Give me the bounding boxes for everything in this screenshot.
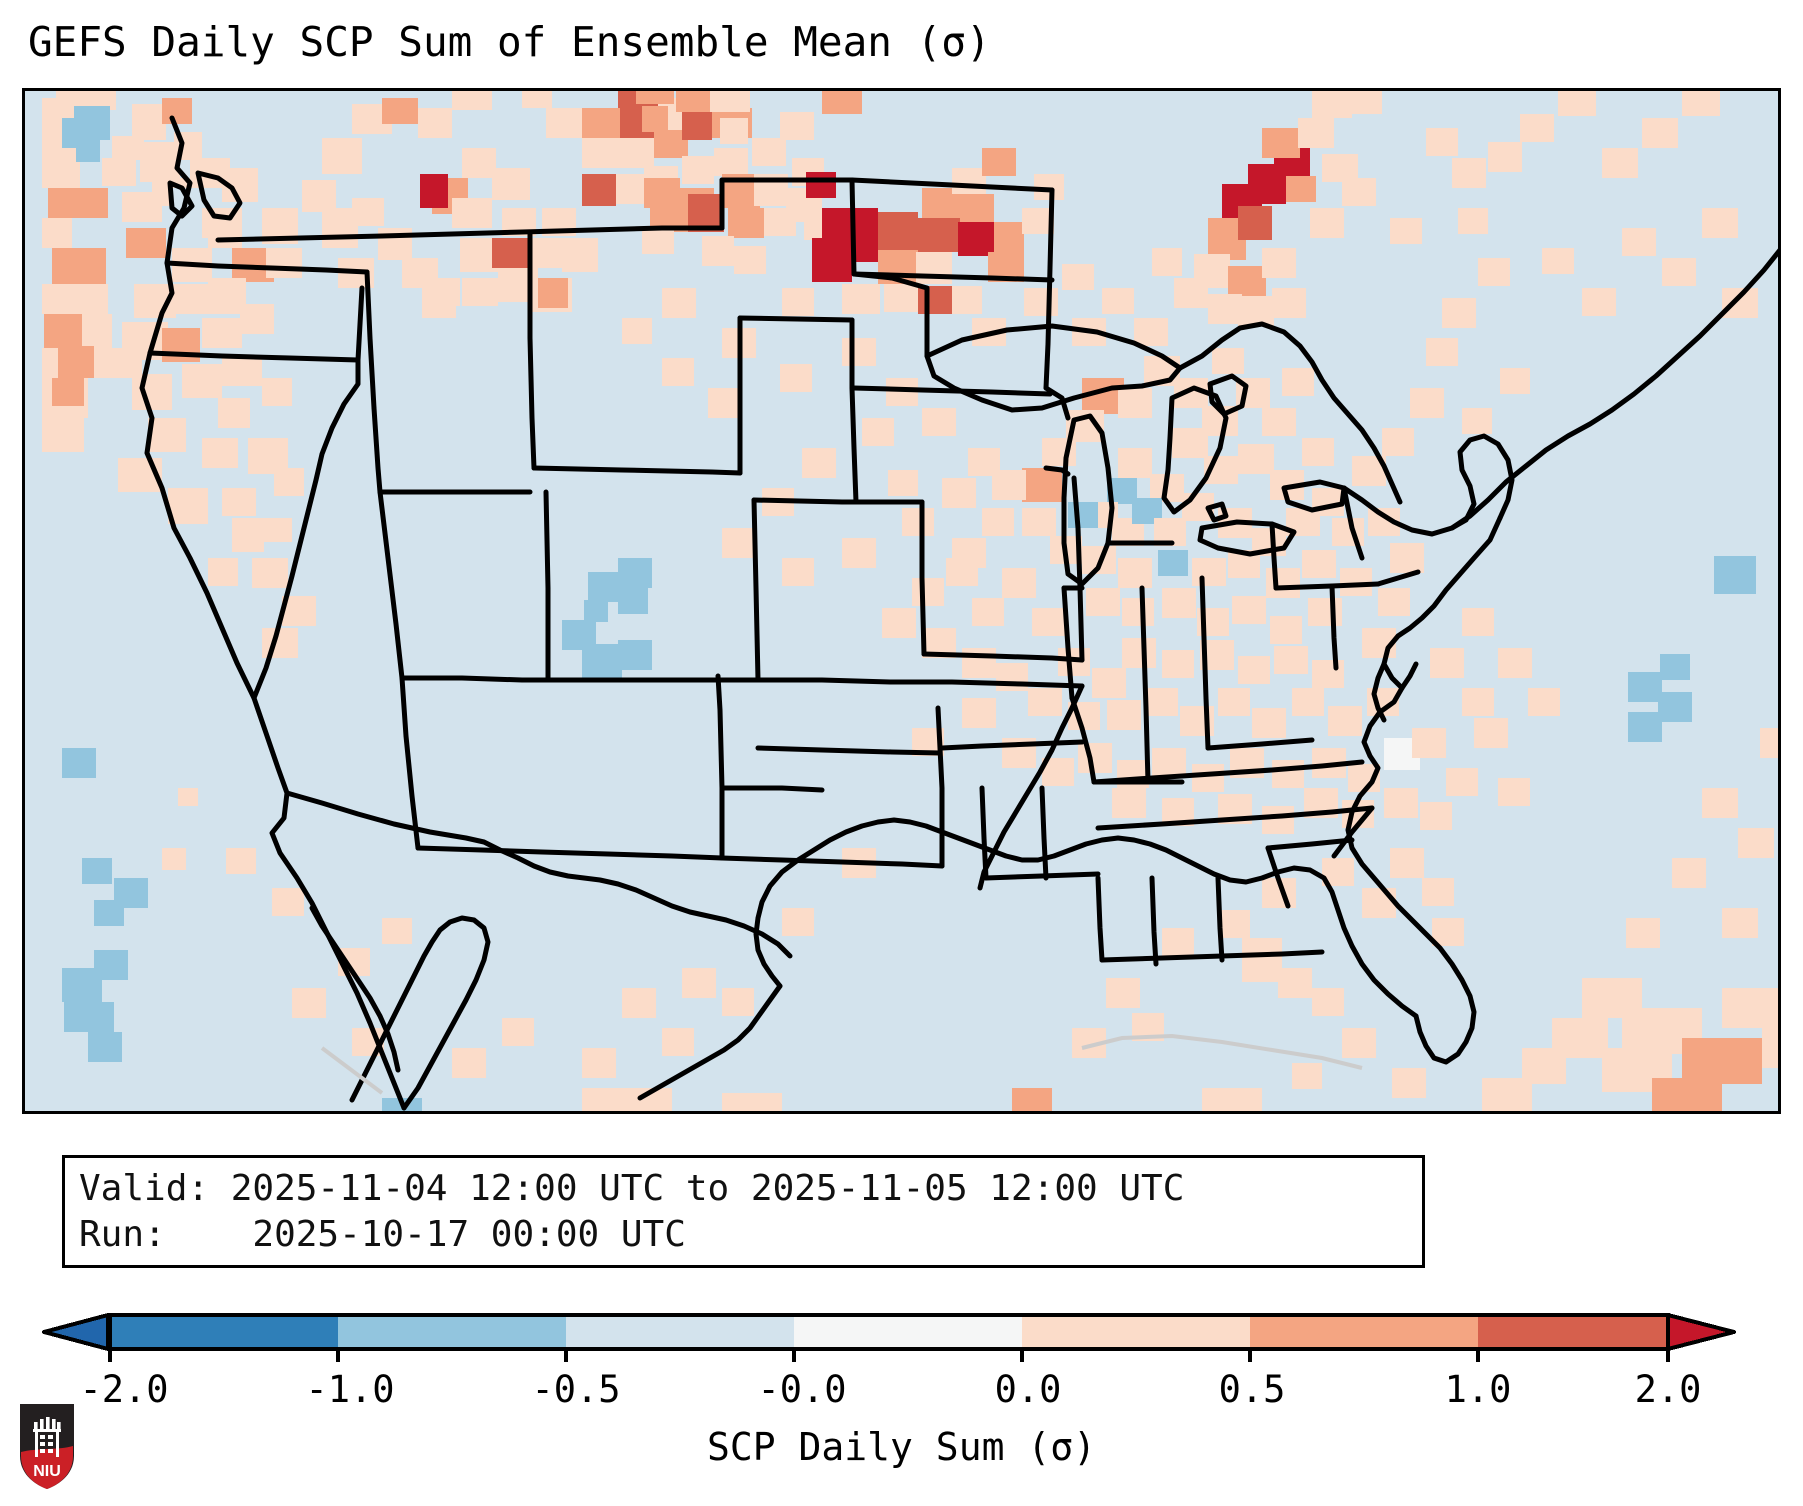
map-heatmap (22, 88, 1781, 1114)
tick-label-5: 0.5 (1219, 1368, 1286, 1411)
tick-label-2: -0.5 (531, 1368, 620, 1411)
run-time-text: Run: 2025-10-17 00:00 UTC (79, 1214, 686, 1255)
logo-text: NIU (33, 1463, 61, 1480)
colorbar-gradient (0, 1302, 1803, 1362)
niu-logo: NIU (16, 1400, 78, 1492)
colorbar-tick-labels: -2.0 -1.0 -0.5 -0.0 0.0 0.5 1.0 2.0 (0, 1368, 1803, 1414)
tick-label-3: -0.0 (757, 1368, 846, 1411)
valid-time-text: Valid: 2025-11-04 12:00 UTC to 2025-11-0… (79, 1168, 1184, 1209)
annotation-box: Valid: 2025-11-04 12:00 UTC to 2025-11-0… (62, 1155, 1425, 1268)
tick-label-7: 2.0 (1635, 1368, 1702, 1411)
colorbar[interactable] (0, 1302, 1803, 1362)
tick-label-1: -1.0 (305, 1368, 394, 1411)
tick-label-0: -2.0 (79, 1368, 168, 1411)
page-title: GEFS Daily SCP Sum of Ensemble Mean (σ) (28, 18, 991, 66)
tick-label-6: 1.0 (1445, 1368, 1512, 1411)
tick-label-4: 0.0 (995, 1368, 1062, 1411)
map-panel[interactable] (22, 88, 1781, 1114)
figure-canvas: GEFS Daily SCP Sum of Ensemble Mean (σ) (0, 0, 1803, 1506)
colorbar-axis-label: SCP Daily Sum (σ) (0, 1425, 1803, 1469)
